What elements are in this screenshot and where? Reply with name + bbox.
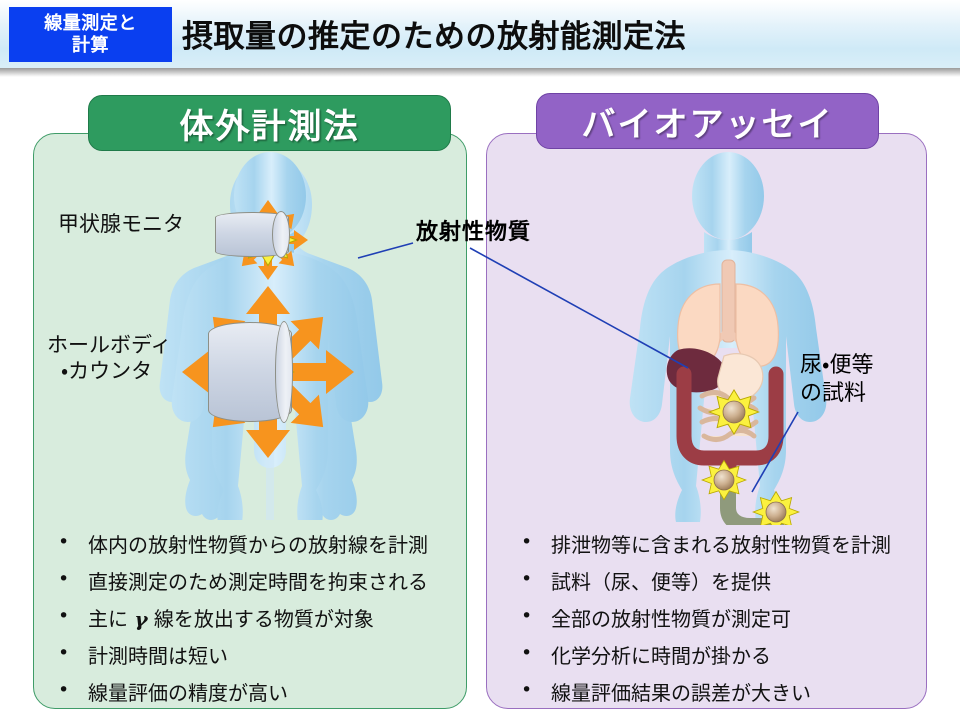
gamma-symbol: γ [134, 607, 147, 631]
list-item: 直接測定のため測定時間を拘束される [50, 572, 428, 592]
bullet-gamma-suffix: 線を放出する物質が対象 [148, 607, 374, 631]
heading-external-measurement: 体外計測法 [88, 95, 451, 151]
kicker-line-2: 計算 [72, 35, 109, 57]
radioactive-source-star-intestine [709, 390, 758, 434]
list-item: 試料（尿、便等）を提供 [513, 572, 891, 592]
callout-sample-line-2: の試料 [800, 380, 873, 408]
list-item: 排泄物等に含まれる放射性物質を計測 [513, 535, 891, 555]
list-item: 全部の放射性物質が測定可 [513, 609, 891, 629]
list-item: 線量評価の精度が高い [50, 683, 428, 703]
wbc-label-line-1: ホールボディ [47, 333, 172, 357]
label-thyroid-monitor: 甲状腺モニタ [58, 212, 184, 238]
figure-external-measurement [150, 150, 470, 520]
callout-sample: 尿・便等 の試料 [800, 352, 873, 408]
label-whole-body-counter: ホールボディ ・カウンタ [47, 333, 172, 384]
list-item: 体内の放射性物質からの放射線を計測 [50, 535, 428, 555]
bullet-list-bioassay: 排泄物等に含まれる放射性物質を計測 試料（尿、便等）を提供 全部の放射性物質が測… [513, 535, 891, 720]
page-title: 摂取量の推定のための放射能測定法 [182, 11, 686, 56]
kicker-badge: 線量測定と 計算 [9, 7, 172, 62]
heading-bioassay: バイオアッセイ [536, 93, 879, 149]
figure-bioassay [600, 150, 930, 525]
list-item: 主に γ 線を放出する物質が対象 [50, 609, 428, 629]
wbc-label-line-2: ・カウンタ [47, 359, 172, 385]
slide-root: 線量測定と 計算 摂取量の推定のための放射能測定法 [0, 0, 960, 720]
callout-radioactive-material: 放射性物質 [416, 214, 531, 246]
list-item: 計測時間は短い [50, 646, 428, 666]
kicker-line-1: 線量測定と [44, 13, 137, 35]
callout-sample-line-1: 尿・便等 [800, 353, 873, 378]
list-item: 線量評価結果の誤差が大きい [513, 683, 891, 703]
thyroid-monitor-icon [215, 212, 289, 257]
whole-body-counter-icon [208, 322, 292, 422]
radioactive-source-star-rectum [702, 460, 746, 499]
bullet-gamma-prefix: 主に [88, 607, 134, 631]
header-divider-shadow [0, 68, 960, 77]
bullet-list-external-measurement: 体内の放射性物質からの放射線を計測 直接測定のため測定時間を拘束される 主に γ… [50, 535, 428, 720]
list-item: 化学分析に時間が掛かる [513, 646, 891, 666]
